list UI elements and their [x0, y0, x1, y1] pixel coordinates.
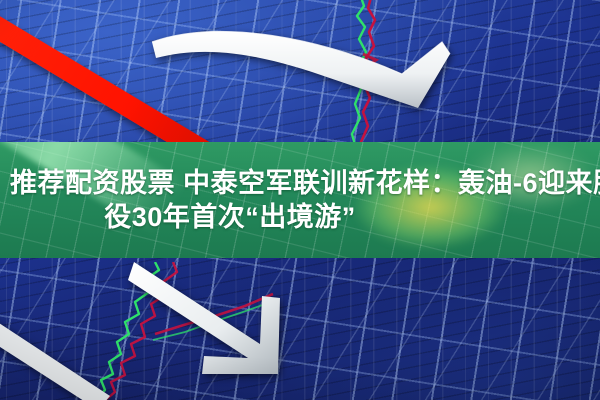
headline-line-1: 推荐配资股票 中泰空军联训新花样：轰油-6迎来服 — [8, 166, 592, 200]
headline-line-2: 役30年首次“出境游” — [8, 200, 592, 234]
news-banner-image: 推荐配资股票 中泰空军联训新花样：轰油-6迎来服 役30年首次“出境游” — [0, 0, 600, 400]
headline-text-block: 推荐配资股票 中泰空军联训新花样：轰油-6迎来服 役30年首次“出境游” — [0, 142, 600, 258]
